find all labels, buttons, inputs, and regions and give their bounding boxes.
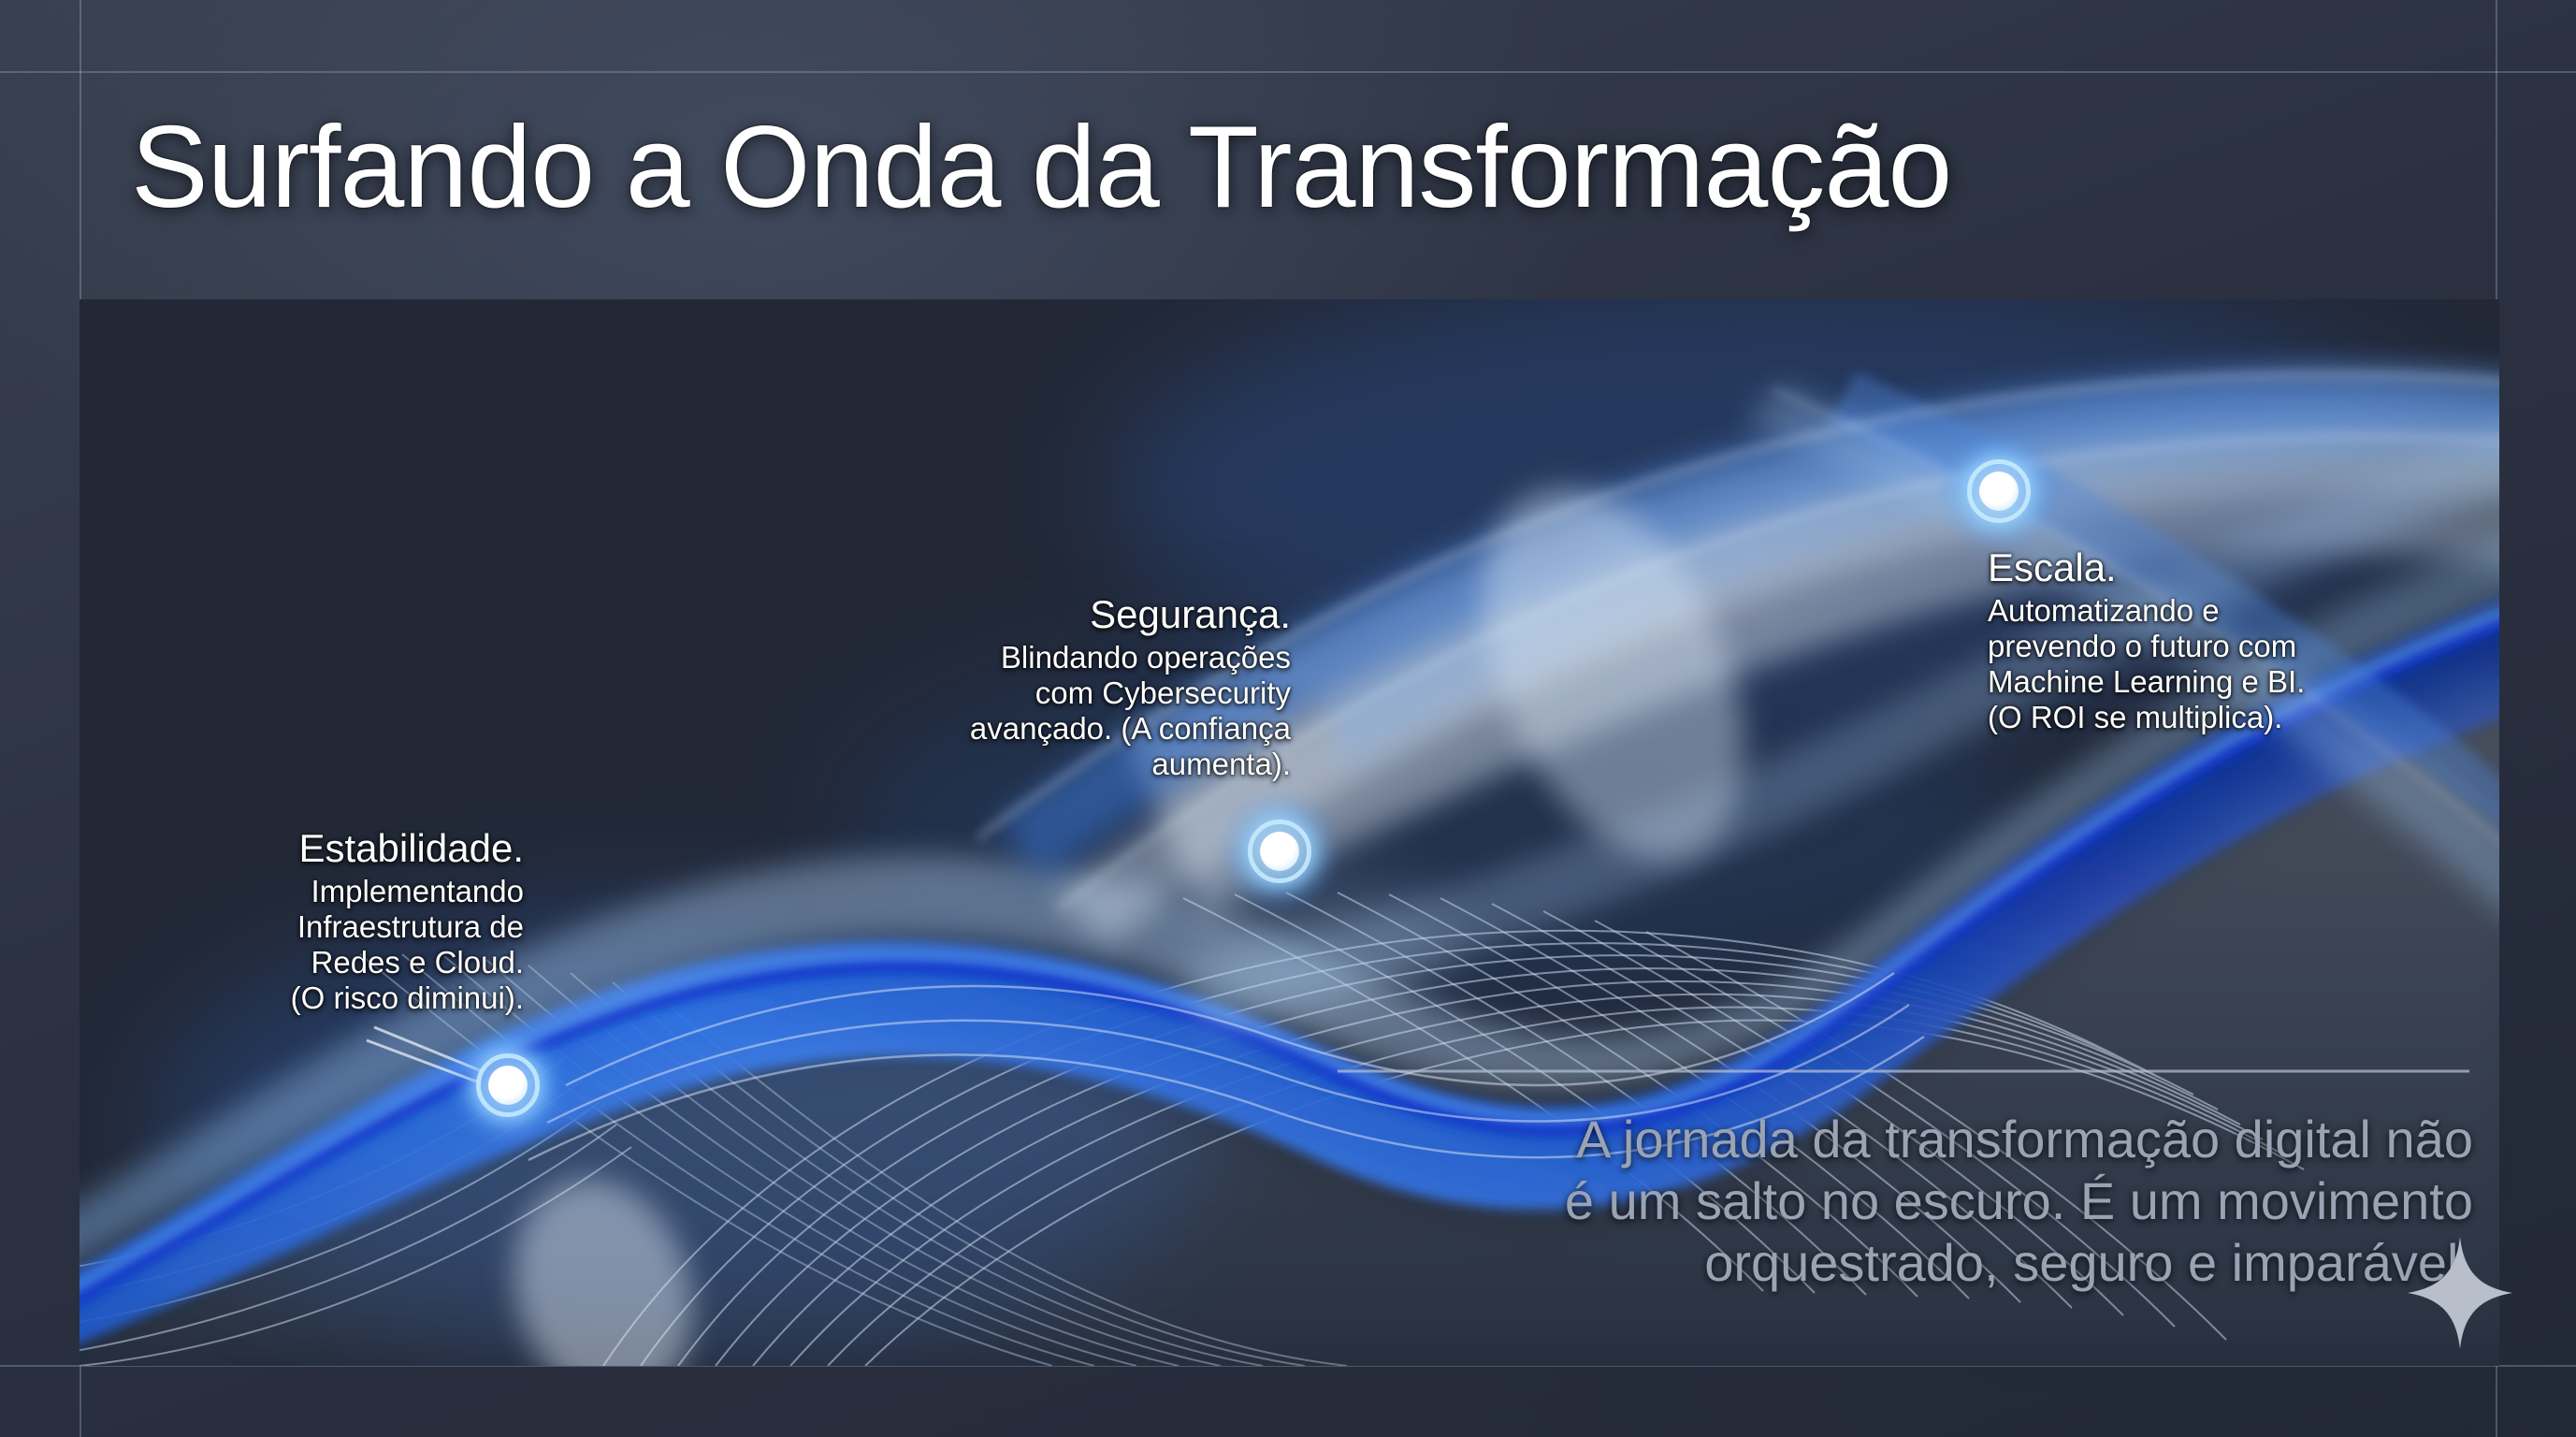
page-title: Surfando a Onda da Transformação xyxy=(131,101,1951,234)
annotation-body: Implementando Infraestrutura de Redes e … xyxy=(168,874,524,1017)
annotation-body: Blindando operações com Cybersecurity av… xyxy=(870,640,1291,783)
node-marker-estabilidade[interactable] xyxy=(476,1053,540,1117)
slide-canvas: Surfando a Onda da Transformação Estabil… xyxy=(0,0,2576,1437)
sparkle-diamond-icon xyxy=(2408,1237,2512,1349)
node-core-icon xyxy=(1979,472,2019,511)
sparkle-diamond-glyph xyxy=(2408,1237,2512,1349)
annotation-headline: Escala. xyxy=(1988,547,2427,589)
annotation-label-seguranca: Segurança. Blindando operações com Cyber… xyxy=(870,594,1291,783)
annotation-headline: Estabilidade. xyxy=(168,828,524,870)
closing-statement: A jornada da transformação digital não é… xyxy=(1351,1109,2473,1294)
annotation-body: Automatizando e prevendo o futuro com Ma… xyxy=(1988,593,2427,736)
node-marker-seguranca[interactable] xyxy=(1248,820,1311,883)
node-core-icon xyxy=(1260,832,1299,871)
annotation-label-escala: Escala. Automatizando e prevendo o futur… xyxy=(1988,547,2427,736)
node-marker-escala[interactable] xyxy=(1967,459,2031,523)
annotation-label-estabilidade: Estabilidade. Implementando Infraestrutu… xyxy=(168,828,524,1017)
node-core-icon xyxy=(488,1066,528,1105)
annotation-headline: Segurança. xyxy=(870,594,1291,636)
